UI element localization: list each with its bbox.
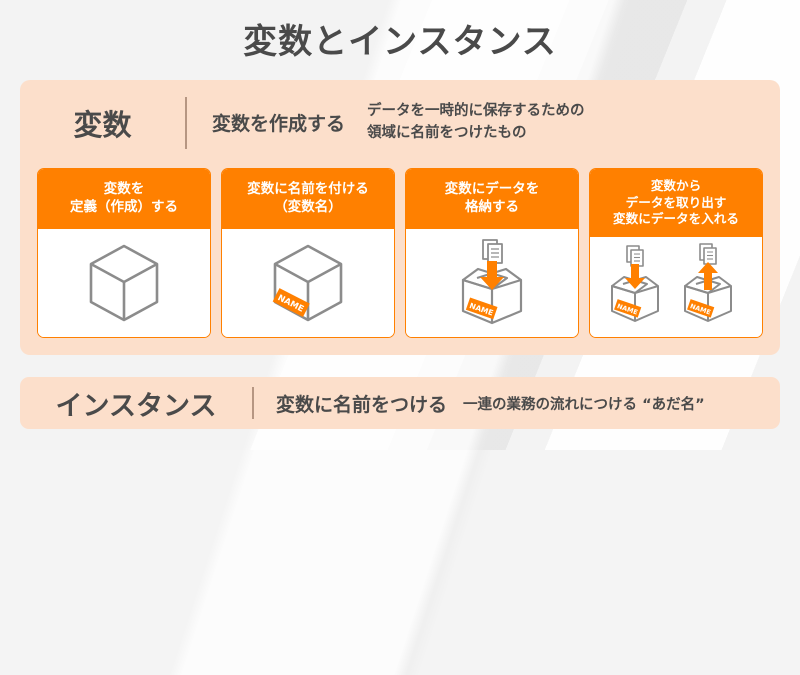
wireframe-cube-icon bbox=[85, 241, 163, 325]
variable-term: 変数 bbox=[20, 102, 185, 144]
card-get-put-data[interactable]: 変数から データを取り出す 変数にデータを入れる bbox=[589, 168, 763, 338]
card-1-header-line-2: 定義（作成）する bbox=[70, 199, 178, 217]
variable-panel: 変数 変数を作成する データを一時的に保存するための 領域に名前をつけたもの 変… bbox=[20, 80, 780, 355]
card-3-header: 変数にデータを 格納する bbox=[406, 169, 578, 229]
card-3-body: NAME bbox=[406, 229, 578, 337]
card-store-data[interactable]: 変数にデータを 格納する bbox=[405, 168, 579, 338]
variable-description-line-1: データを一時的に保存するための bbox=[367, 101, 585, 122]
card-4-header-line-3: 変数にデータを入れる bbox=[613, 211, 739, 228]
name-tag: NAME bbox=[614, 299, 641, 318]
card-define-variable[interactable]: 変数を 定義（作成）する bbox=[37, 168, 211, 338]
variable-panel-header: 変数 変数を作成する データを一時的に保存するための 領域に名前をつけたもの bbox=[20, 80, 780, 165]
card-4-header-line-2: データを取り出す bbox=[613, 195, 739, 212]
box-document-in-icon: NAME bbox=[444, 237, 540, 329]
document-icon bbox=[627, 246, 643, 266]
card-2-header: 変数に名前を付ける （変数名） bbox=[222, 169, 394, 229]
variable-description-line-2: 領域に名前をつけたもの bbox=[367, 123, 585, 144]
box-insert-group: NAME bbox=[612, 246, 658, 321]
arrow-down-icon bbox=[625, 264, 645, 289]
card-1-header: 変数を 定義（作成）する bbox=[38, 169, 210, 229]
card-3-header-line-2: 格納する bbox=[445, 199, 540, 217]
name-tag: NAME bbox=[273, 288, 310, 317]
card-name-variable[interactable]: 変数に名前を付ける （変数名） NAME bbox=[221, 168, 395, 338]
instance-description: 一連の業務の流れにつける “あだ名” bbox=[463, 393, 705, 414]
card-2-header-line-1: 変数に名前を付ける bbox=[247, 181, 369, 199]
card-4-header: 変数から データを取り出す 変数にデータを入れる bbox=[590, 169, 762, 237]
instance-term: インスタンス bbox=[20, 384, 252, 423]
variable-subtitle: 変数を作成する bbox=[212, 109, 345, 136]
page-title: 変数とインスタンス bbox=[0, 14, 800, 63]
card-4-body: NAME bbox=[590, 237, 762, 337]
arrow-up-icon bbox=[698, 262, 718, 290]
name-tag: NAME bbox=[687, 299, 714, 318]
variable-description: データを一時的に保存するための 領域に名前をつけたもの bbox=[367, 101, 585, 143]
card-4-header-line-1: 変数から bbox=[613, 178, 739, 195]
variable-card-row: 変数を 定義（作成）する bbox=[37, 168, 763, 338]
instance-bar: インスタンス 変数に名前をつける 一連の業務の流れにつける “あだ名” bbox=[20, 377, 780, 429]
box-extract-group: NAME bbox=[685, 244, 731, 321]
box-document-in-out-icon: NAME bbox=[601, 242, 751, 332]
header-divider bbox=[185, 97, 187, 149]
card-1-body bbox=[38, 229, 210, 337]
instance-divider bbox=[252, 387, 254, 419]
card-3-header-line-1: 変数にデータを bbox=[445, 181, 540, 199]
document-icon bbox=[700, 244, 716, 264]
document-icon bbox=[483, 240, 502, 263]
card-2-header-line-2: （変数名） bbox=[247, 199, 369, 217]
card-2-body: NAME bbox=[222, 229, 394, 337]
labeled-cube-icon: NAME bbox=[269, 241, 347, 325]
slide-stage: 変数とインスタンス 変数 変数を作成する データを一時的に保存するための 領域に… bbox=[0, 0, 800, 450]
instance-subtitle: 変数に名前をつける bbox=[276, 390, 447, 417]
card-1-header-line-1: 変数を bbox=[70, 181, 178, 199]
